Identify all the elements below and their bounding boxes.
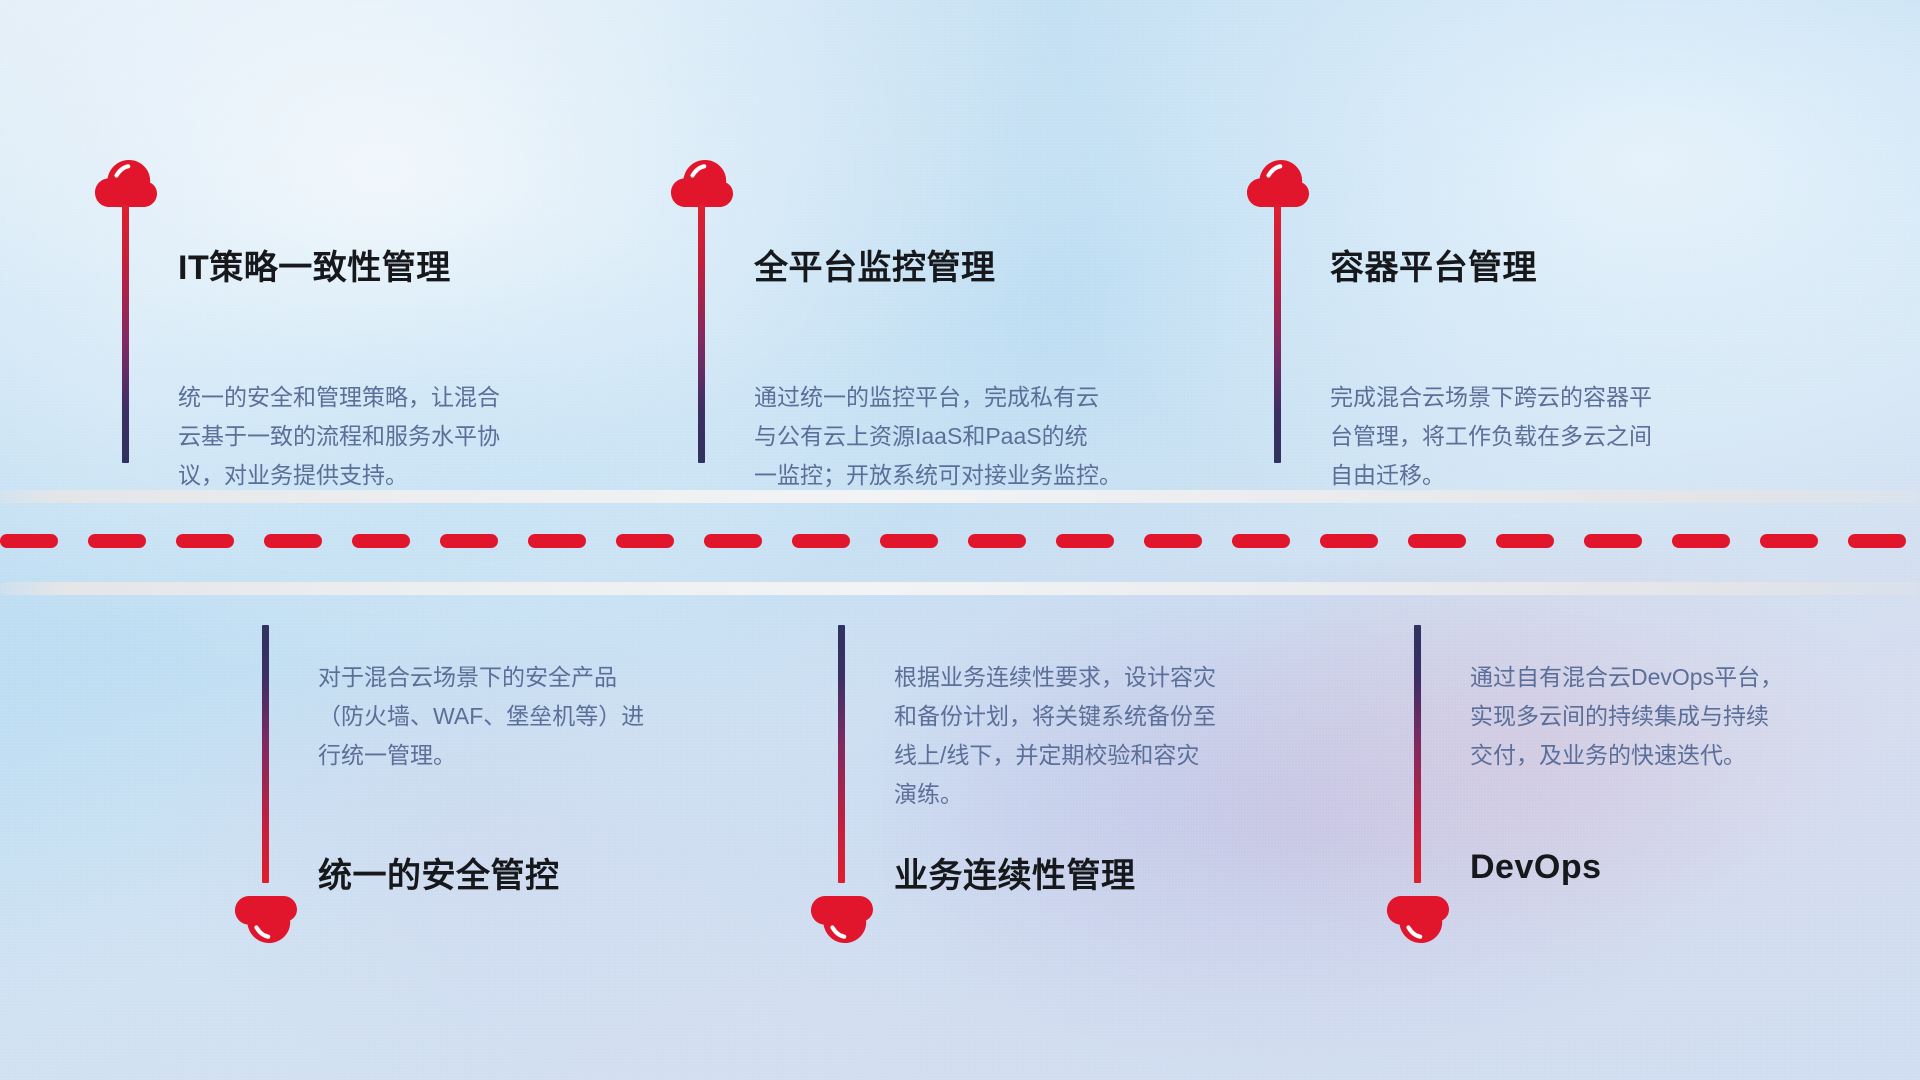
road-dash [704, 534, 762, 548]
cloud-pin-icon [235, 895, 297, 943]
top-item-1[interactable]: IT策略一致性管理 统一的安全和管理策略，让混合 云基于一致的流程和服务水平协 … [0, 0, 640, 500]
bottom-item-2-body: 根据业务连续性要求，设计容灾 和备份计划，将关键系统备份至 线上/线下，并定期校… [894, 658, 1334, 814]
top-item-2-heading: 全平台监控管理 [754, 240, 996, 289]
road-dash [1056, 534, 1114, 548]
road-divider [0, 490, 1920, 600]
bottom-item-3-body: 通过自有混合云DevOps平台， 实现多云间的持续集成与持续 交付，及业务的快速… [1470, 658, 1910, 775]
road-bar-bottom [0, 582, 1920, 595]
cloud-pin-icon [811, 895, 873, 943]
road-dash [1584, 534, 1642, 548]
road-dash [528, 534, 586, 548]
road-dash [616, 534, 674, 548]
top-item-3[interactable]: 容器平台管理 完成混合云场景下跨云的容器平 台管理，将工作负载在多云之间 自由迁… [1152, 0, 1852, 500]
cloud-pin-icon [671, 160, 733, 208]
road-bar-top [0, 490, 1920, 503]
road-dash [1760, 534, 1818, 548]
bottom-item-1-heading: 统一的安全管控 [318, 848, 560, 897]
road-dash [1232, 534, 1290, 548]
bottom-item-1-body: 对于混合云场景下的安全产品 （防火墙、WAF、堡垒机等）进 行统一管理。 [318, 658, 758, 775]
road-dash [1496, 534, 1554, 548]
road-dash [880, 534, 938, 548]
road-dash [1672, 534, 1730, 548]
bottom-item-3[interactable]: 通过自有混合云DevOps平台， 实现多云间的持续集成与持续 交付，及业务的快速… [1292, 600, 1920, 1080]
cloud-pin-icon [1387, 895, 1449, 943]
connector-line [1274, 205, 1281, 463]
road-dash [352, 534, 410, 548]
connector-line [1414, 625, 1421, 883]
bottom-item-2-heading: 业务连续性管理 [894, 848, 1136, 897]
road-dash [1320, 534, 1378, 548]
bottom-row: 对于混合云场景下的安全产品 （防火墙、WAF、堡垒机等）进 行统一管理。 统一的… [0, 600, 1920, 1080]
road-dash [1848, 534, 1906, 548]
bottom-item-3-heading: DevOps [1470, 848, 1602, 887]
connector-line [698, 205, 705, 463]
road-dash [0, 534, 58, 548]
cloud-pin-icon [1247, 160, 1309, 208]
road-dash-line [0, 534, 1920, 548]
road-dash [1408, 534, 1466, 548]
road-dash [440, 534, 498, 548]
top-row: IT策略一致性管理 统一的安全和管理策略，让混合 云基于一致的流程和服务水平协 … [0, 0, 1920, 500]
top-item-3-body: 完成混合云场景下跨云的容器平 台管理，将工作负载在多云之间 自由迁移。 [1330, 378, 1780, 495]
bottom-item-1[interactable]: 对于混合云场景下的安全产品 （防火墙、WAF、堡垒机等）进 行统一管理。 统一的… [140, 600, 780, 1080]
top-item-1-body: 统一的安全和管理策略，让混合 云基于一致的流程和服务水平协 议，对业务提供支持。 [178, 378, 618, 495]
road-dash [88, 534, 146, 548]
cloud-pin-icon [95, 160, 157, 208]
bottom-item-2[interactable]: 根据业务连续性要求，设计容灾 和备份计划，将关键系统备份至 线上/线下，并定期校… [716, 600, 1356, 1080]
top-item-1-heading: IT策略一致性管理 [178, 240, 451, 289]
connector-line [122, 205, 129, 463]
road-dash [968, 534, 1026, 548]
top-item-3-heading: 容器平台管理 [1330, 240, 1537, 289]
road-dash [792, 534, 850, 548]
infographic-canvas: IT策略一致性管理 统一的安全和管理策略，让混合 云基于一致的流程和服务水平协 … [0, 0, 1920, 1080]
connector-line [262, 625, 269, 883]
connector-line [838, 625, 845, 883]
top-item-2[interactable]: 全平台监控管理 通过统一的监控平台，完成私有云 与公有云上资源IaaS和PaaS… [576, 0, 1216, 500]
road-dash [1144, 534, 1202, 548]
road-dash [264, 534, 322, 548]
road-dash [176, 534, 234, 548]
